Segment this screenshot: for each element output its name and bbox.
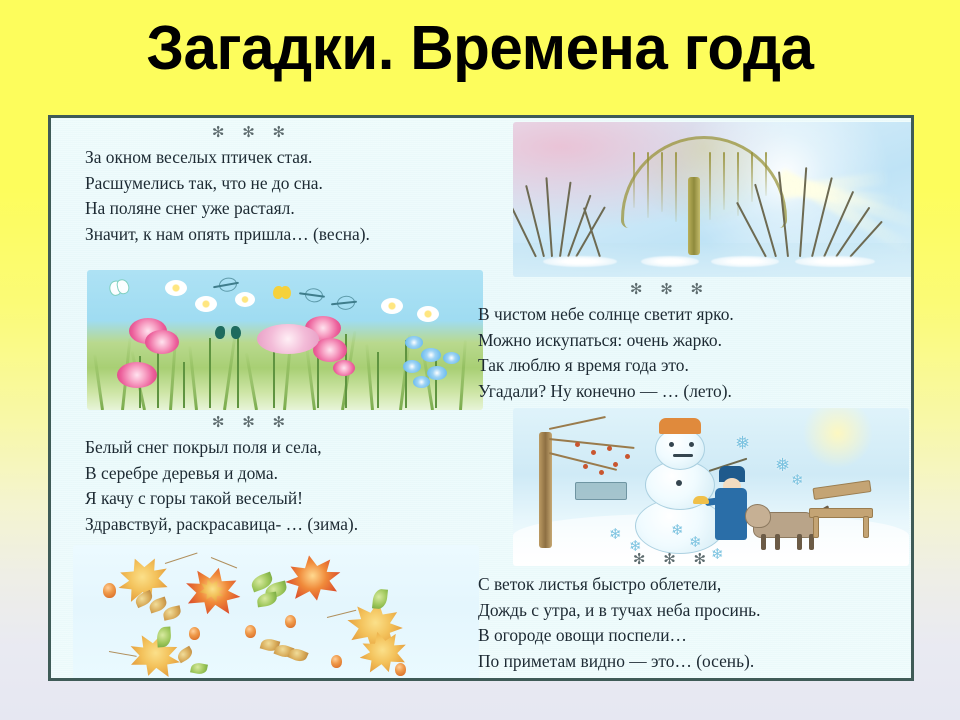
snowflake-icon: ❅ <box>735 434 750 452</box>
illustration-summer-meadow <box>87 270 483 410</box>
flower-daisy <box>417 306 439 322</box>
snowman-button <box>676 480 682 486</box>
rosehip-berry <box>395 663 406 676</box>
melting-snow-patch <box>711 256 779 267</box>
green-leaf <box>372 588 388 609</box>
page-title: Загадки. Времена года <box>146 18 813 80</box>
melting-snow-patch <box>641 256 699 267</box>
rosehip-berry <box>245 625 256 638</box>
flower-stem <box>405 340 407 408</box>
tree-branch <box>549 416 606 430</box>
park-bench-leg <box>863 516 869 538</box>
park-bench-leg <box>813 516 819 538</box>
rowan-berry <box>591 450 596 455</box>
riddle-line: С веток листья быстро облетели, <box>478 572 908 598</box>
flower-pink <box>117 362 157 388</box>
riddle-autumn: ✻ ✻ ✻ С веток листья быстро облетели, До… <box>478 553 908 674</box>
willow-drape <box>675 152 677 222</box>
dragonfly-icon <box>299 292 325 298</box>
riddle-spring: ✻ ✻ ✻ За окном веселых птичек стая. Расш… <box>85 126 485 247</box>
flower-blue <box>427 366 447 380</box>
flower-stem <box>377 352 379 408</box>
dragonfly-icon <box>213 282 239 288</box>
riddle-separator: ✻ ✻ ✻ <box>478 553 908 567</box>
rowan-berry <box>613 462 618 467</box>
grass-blade <box>188 346 198 410</box>
twig <box>109 651 137 657</box>
melting-snow-patch <box>543 256 617 267</box>
grass-blade <box>93 354 104 410</box>
snowflake-icon: ❄ <box>671 524 684 539</box>
grass-blade <box>305 348 316 410</box>
green-leaf <box>190 661 208 675</box>
flower-pink <box>145 330 179 354</box>
butterfly-dark-icon <box>215 326 241 343</box>
twig <box>327 610 356 618</box>
willow-drape <box>723 152 725 210</box>
riddle-line-answer: Угадали? Ну конечно — … (лето). <box>478 379 896 405</box>
riddle-summer: ✻ ✻ ✻ В чистом небе солнце светит ярко. … <box>478 283 896 404</box>
riddle-line: За окном веселых птичек стая. <box>85 145 485 171</box>
melting-snow-patch <box>795 256 875 267</box>
riddle-line: На поляне снег уже растаял. <box>85 196 485 222</box>
riddle-separator: ✻ ✻ ✻ <box>478 283 896 297</box>
flower-stem <box>209 338 211 408</box>
swing-bench <box>575 482 627 500</box>
flower-stem <box>183 362 185 408</box>
flower-pink <box>333 360 355 376</box>
rowan-berry <box>625 454 630 459</box>
green-leaf <box>156 627 171 648</box>
riddle-separator: ✻ ✻ ✻ <box>85 126 485 140</box>
willow-drape <box>633 152 635 208</box>
riddle-line: Я качу с горы такой веселый! <box>85 486 491 512</box>
flower-daisy <box>235 292 255 307</box>
illustration-winter-snowman: ❄ ❄ ❄ ❄ ❅ ❅ ❄ ❄ <box>513 408 909 566</box>
riddle-line: В чистом небе солнце светит ярко. <box>478 302 896 328</box>
rosehip-berry <box>331 655 342 668</box>
snowman-smile <box>673 454 693 457</box>
riddle-line: Белый снег покрыл поля и села, <box>85 435 491 461</box>
twig <box>165 553 198 564</box>
flower-blue <box>413 376 430 388</box>
snowman-head <box>655 428 705 470</box>
flower-lilac-cluster <box>257 324 319 354</box>
park-bench-back <box>812 480 871 500</box>
dog-leg <box>761 534 766 550</box>
dog-head <box>745 504 771 528</box>
willow-drape <box>765 152 767 196</box>
grass-blade <box>245 353 258 410</box>
snowman-eye <box>669 442 674 447</box>
green-leaf <box>256 592 278 608</box>
butterfly-yellow-icon <box>273 286 291 298</box>
snowflake-icon: ❄ <box>609 528 622 543</box>
maple-leaf <box>123 626 186 681</box>
willow-drape <box>709 152 711 220</box>
riddle-line: Дождь с утра, и в тучах неба просинь. <box>478 598 908 624</box>
child-body <box>715 488 747 540</box>
flower-daisy <box>165 280 187 296</box>
tree-trunk <box>539 432 552 548</box>
flower-stem <box>273 350 275 408</box>
riddle-line: Расшумелись так, что не до сна. <box>85 171 485 197</box>
butterfly-white-icon <box>108 278 130 295</box>
grass-blade <box>365 344 374 410</box>
flower-blue <box>405 336 423 349</box>
rowan-berry <box>599 470 604 475</box>
flower-blue <box>421 348 441 362</box>
riddle-line: В серебре деревья и дома. <box>85 461 491 487</box>
grass-blade <box>459 340 467 410</box>
snowman-hat <box>659 418 701 434</box>
snowflake-icon: ❄ <box>689 536 702 551</box>
rowan-berry <box>607 446 612 451</box>
willow-trunk <box>688 177 700 255</box>
riddle-line: Так люблю я время года это. <box>478 353 896 379</box>
twig <box>211 557 237 568</box>
rosehip-berry <box>189 627 200 640</box>
riddle-line: Можно искупаться: очень жарко. <box>478 328 896 354</box>
rosehip-berry <box>285 615 296 628</box>
willow-drape <box>661 152 663 212</box>
riddle-separator: ✻ ✻ ✻ <box>85 416 491 430</box>
dragonfly-icon <box>331 301 357 306</box>
child-mitten-carrot <box>693 496 709 504</box>
snowflake-icon: ❅ <box>775 456 790 474</box>
riddle-card: ✻ ✻ ✻ За окном веселых птичек стая. Расш… <box>48 115 914 681</box>
flower-blue <box>403 360 421 373</box>
tree-branch <box>549 438 635 449</box>
snowman-eye <box>689 442 694 447</box>
riddle-line-answer: Значит, к нам опять пришла… (весна). <box>85 222 485 248</box>
maple-leaf <box>281 550 344 605</box>
flower-blue <box>443 352 460 364</box>
leaf-sprig <box>162 605 182 620</box>
rowan-berry <box>575 442 580 447</box>
riddle-winter: ✻ ✻ ✻ Белый снег покрыл поля и села, В с… <box>85 416 491 537</box>
snowflake-icon: ❄ <box>791 474 804 489</box>
willow-drape <box>751 152 753 202</box>
riddle-line: В огороде овощи поспели… <box>478 623 908 649</box>
dog-leg <box>775 534 780 550</box>
riddle-line-answer: Здравствуй, раскрасавица- … (зима). <box>85 512 491 538</box>
leaf-sprig <box>175 646 194 664</box>
title-bar: Загадки. Времена года <box>0 6 960 92</box>
illustration-autumn-leaves <box>73 545 479 681</box>
willow-drape <box>647 152 649 218</box>
rosehip-berry <box>103 583 116 598</box>
flower-daisy <box>195 296 217 312</box>
dog-leg <box>797 534 802 550</box>
flower-daisy <box>381 298 403 314</box>
illustration-spring-willow <box>513 122 913 277</box>
riddle-line-answer: По приметам видно — это… (осень). <box>478 649 908 675</box>
rowan-berry <box>583 464 588 469</box>
